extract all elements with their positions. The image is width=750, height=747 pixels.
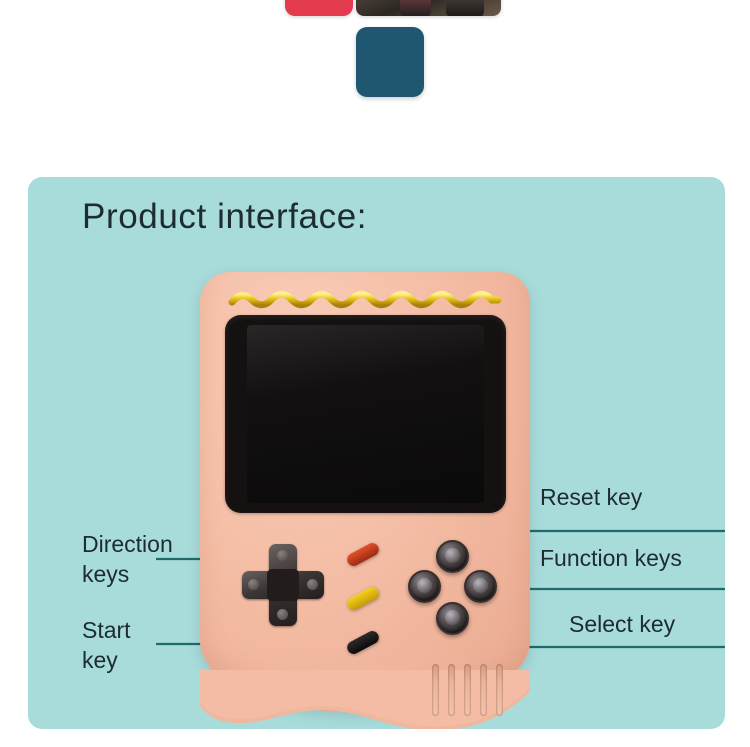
speaker-grille <box>432 664 506 716</box>
teal-swatch[interactable] <box>356 27 424 97</box>
function-key-right-button[interactable] <box>464 570 497 603</box>
page-title: Product interface: <box>82 197 367 237</box>
speaker-slot <box>480 664 487 716</box>
red-swatch[interactable] <box>285 0 353 16</box>
product-interface-panel: Product interface: <box>28 177 725 729</box>
speaker-slot <box>496 664 503 716</box>
dpad-center <box>267 569 299 601</box>
dpad-down-nub <box>277 609 288 620</box>
function-key-bottom-button[interactable] <box>436 602 469 635</box>
speaker-slot <box>448 664 455 716</box>
speaker-slot <box>432 664 439 716</box>
lcd-screen <box>247 325 484 503</box>
handheld-console-illustration <box>200 272 530 729</box>
lifestyle-photo-thumbnail[interactable] <box>356 0 501 16</box>
callout-select-key: Select key <box>569 609 675 639</box>
dpad-up-nub <box>277 550 288 561</box>
top-thumbnail-strip <box>0 0 750 155</box>
callout-function-keys: Function keys <box>540 543 682 573</box>
callout-start-key: Start key <box>82 615 131 675</box>
callout-direction-keys: Direction keys <box>82 529 173 589</box>
function-key-top-button[interactable] <box>436 540 469 573</box>
direction-pad[interactable] <box>242 544 324 626</box>
gold-wave-decoration <box>228 287 502 309</box>
function-key-left-button[interactable] <box>408 570 441 603</box>
callout-reset-key: Reset key <box>540 482 642 512</box>
screen-bezel <box>225 315 506 513</box>
dpad-left-nub <box>248 579 259 590</box>
dpad-right-nub <box>307 579 318 590</box>
speaker-slot <box>464 664 471 716</box>
